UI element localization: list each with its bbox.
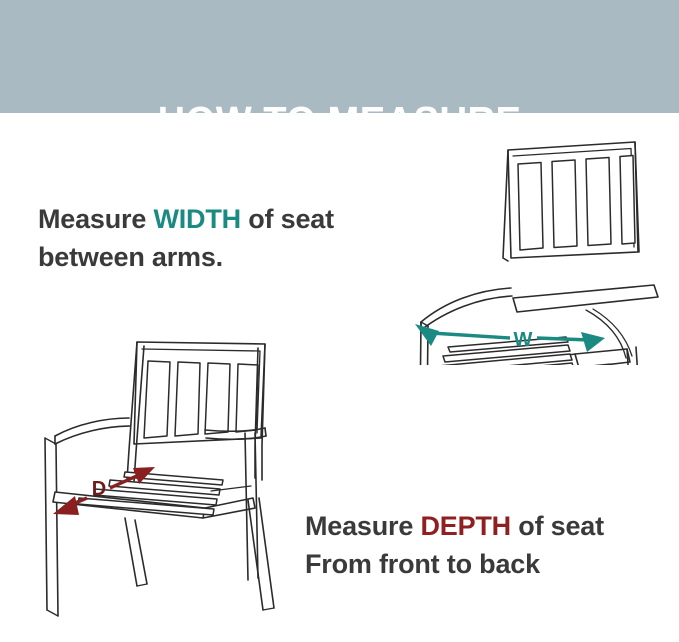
rear-leg-right-foot [263, 608, 274, 610]
backrest-slat-4 [620, 156, 635, 245]
infographic-page: HOW TO MEASURE YOUR FURNITURE Measure WI… [0, 0, 679, 642]
backrest-slat-1 [518, 163, 543, 251]
depth-keyword: DEPTH [420, 511, 511, 541]
arm-post-left-inner [56, 444, 58, 616]
depth-chair-diagram: D [15, 320, 300, 630]
width-keyword: WIDTH [153, 204, 240, 234]
depth-caption-suffix: of seat [511, 511, 604, 541]
seat-side-rail [580, 364, 610, 365]
depth-caption-line-2: From front to back [305, 549, 540, 579]
back-post-left [503, 150, 508, 261]
armrest-right [513, 285, 658, 312]
depth-caption: Measure DEPTH of seat From front to back [305, 507, 604, 583]
armrest-right-end [265, 428, 266, 436]
width-dimension-arrow: W [415, 324, 605, 352]
width-caption-suffix: of seat [241, 204, 334, 234]
front-leg-center-inner [135, 520, 147, 584]
arm-post-left-foot [47, 610, 58, 616]
front-leg-center-outer [125, 518, 137, 586]
backrest-slat-2 [552, 160, 577, 248]
backrest-slat-2 [175, 362, 200, 436]
width-arrowhead-left [415, 324, 439, 346]
arm-post-right-outer [245, 433, 248, 580]
armrest-left-bottom [55, 426, 130, 444]
width-caption-prefix: Measure [38, 204, 153, 234]
depth-caption-prefix: Measure [305, 511, 420, 541]
backrest-slat-3 [586, 158, 611, 246]
width-arrowhead-right [581, 332, 605, 352]
seat-rail-right [575, 349, 630, 365]
backrest-slat-4 [236, 364, 258, 432]
width-dimension-label: W [514, 329, 533, 351]
depth-dimension-label: D [92, 478, 106, 500]
arm-post-left-top [421, 322, 428, 326]
front-leg-center-cap [137, 584, 147, 586]
armrest-left-bottom [421, 296, 512, 330]
backrest-slat-1 [144, 361, 170, 438]
backrest-slat-3 [205, 363, 230, 434]
width-caption-line-2: between arms. [38, 242, 223, 272]
rear-leg-right-inner [636, 347, 645, 365]
arm-post-left-outer [45, 438, 47, 610]
width-caption: Measure WIDTH of seat between arms. [38, 200, 334, 276]
width-chair-diagram: W [405, 130, 679, 365]
